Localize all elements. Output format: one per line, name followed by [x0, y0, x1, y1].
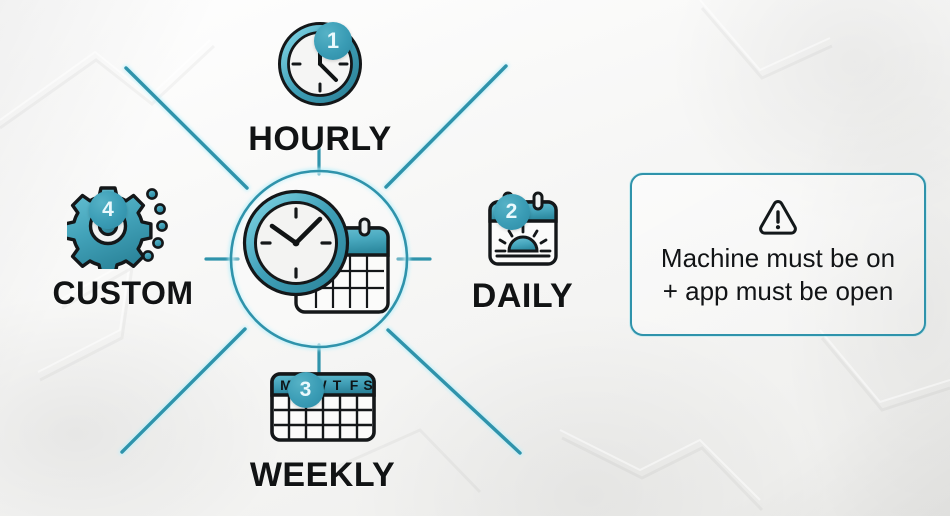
node-weekly[interactable]: M T W T F S 3 WEEKLY [215, 368, 430, 492]
node-custom-label: CUSTOM [52, 277, 193, 309]
svg-text:F: F [349, 377, 358, 393]
node-weekly-badge: 3 [288, 372, 324, 408]
gear-icon [67, 183, 179, 269]
node-weekly-icon-wrap: M T W T F S 3 [267, 368, 379, 448]
node-hourly-icon-wrap: 1 [272, 16, 368, 112]
node-custom[interactable]: 4 CUSTOM [28, 183, 218, 309]
node-hourly[interactable]: 1 HOURLY [195, 16, 445, 156]
node-daily[interactable]: 2 DAILY [425, 188, 620, 313]
callout-line-2: + app must be open [663, 275, 894, 308]
callout-line-1: Machine must be on [661, 242, 895, 275]
node-custom-badge: 4 [89, 191, 127, 229]
infographic-canvas: 1 HOURLY [0, 0, 950, 516]
calendar-week-icon: M T W T F S [267, 368, 379, 448]
node-daily-icon-wrap: 2 [481, 188, 565, 270]
node-hourly-label: HOURLY [248, 122, 391, 156]
requirement-callout: Machine must be on + app must be open [630, 173, 926, 336]
node-weekly-label: WEEKLY [250, 458, 395, 492]
node-custom-icon-wrap: 4 [67, 183, 179, 269]
svg-text:T: T [332, 377, 341, 393]
node-hourly-badge: 1 [314, 22, 352, 60]
warning-triangle-icon [757, 197, 799, 235]
node-daily-badge: 2 [494, 194, 530, 230]
node-daily-label: DAILY [472, 279, 573, 313]
svg-text:S: S [363, 377, 372, 393]
